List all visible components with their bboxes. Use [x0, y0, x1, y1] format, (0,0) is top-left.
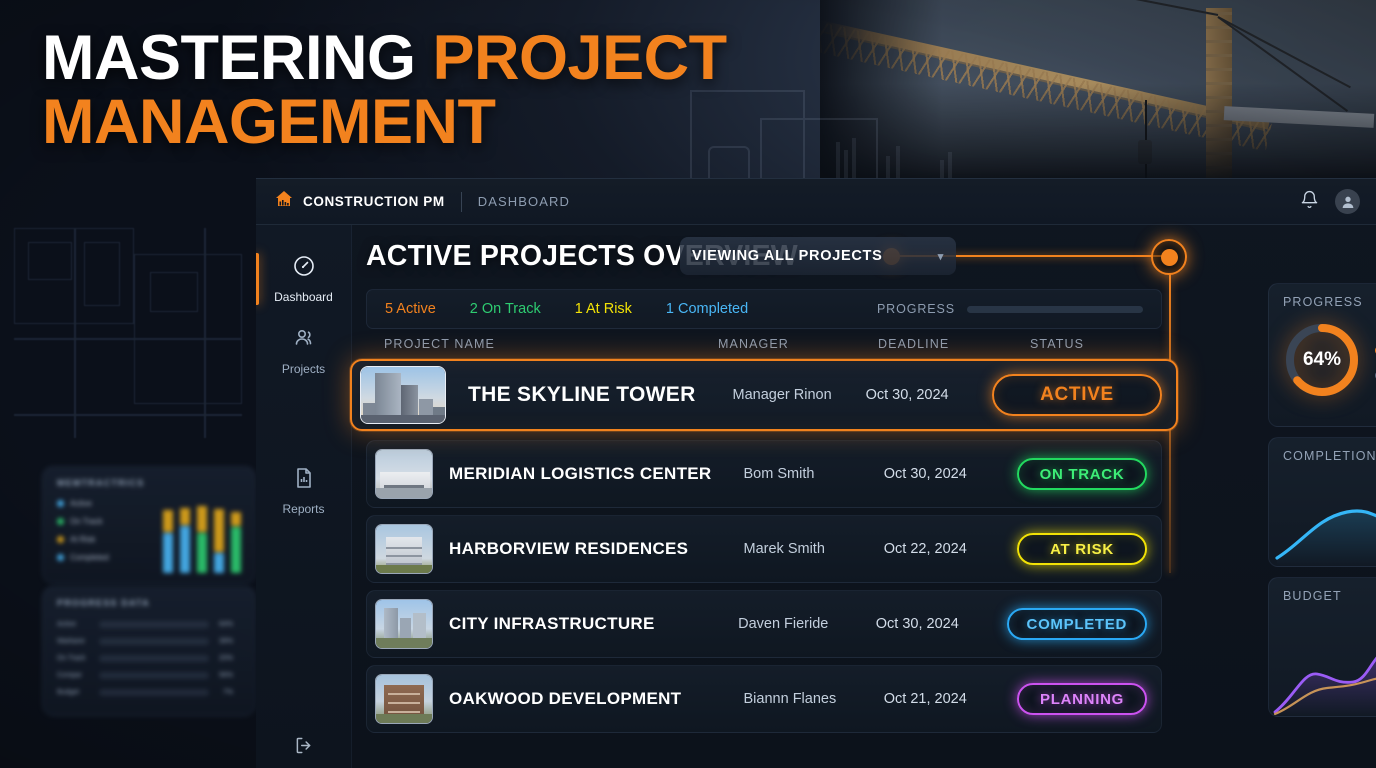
background-metrics-card: MEMTRACTRICS Active On Track At Risk Com…	[42, 466, 256, 584]
column-header-project-name: PROJECT NAME	[366, 337, 718, 351]
completion-card-title: COMPLETION	[1269, 438, 1376, 463]
chevron-down-icon: ▾	[938, 250, 944, 263]
logout-icon	[293, 735, 314, 761]
viewing-filter-label: VIEWING ALL PROJECTS	[692, 248, 882, 264]
brand[interactable]: CONSTRUCTION PM	[274, 189, 445, 214]
stat-at-risk[interactable]: 1 At Risk	[575, 301, 632, 317]
donut-value: 64%	[1281, 319, 1363, 401]
completion-line-chart	[1269, 474, 1376, 566]
bg-legend-label: Active	[70, 499, 92, 508]
project-thumbnail	[375, 449, 433, 499]
project-name: THE SKYLINE TOWER	[468, 383, 696, 406]
table-row[interactable]: THE SKYLINE TOWER Manager Rinon Oct 30, …	[350, 359, 1178, 431]
sidebar-item-reports[interactable]: Reports	[256, 455, 351, 527]
project-name-cell: OAKWOOD DEVELOPMENT	[433, 689, 744, 709]
completion-card: COMPLETION	[1268, 437, 1376, 567]
background-metrics-title: MEMTRACTRICS	[57, 478, 144, 488]
budget-area-chart	[1269, 624, 1376, 716]
project-deadline: Oct 30, 2024	[866, 387, 992, 403]
topbar-actions	[1300, 189, 1360, 214]
bg-row-value: 39%	[215, 638, 233, 645]
hero-line2: MANAGEMENT	[42, 87, 495, 157]
progress-label: PROGRESS	[877, 302, 955, 316]
project-manager: Bom Smith	[744, 466, 884, 482]
bg-row-label: Compar	[57, 672, 93, 679]
bg-row-label: Active	[57, 621, 93, 628]
project-name-cell: MERIDIAN LOGISTICS CENTER	[433, 464, 744, 484]
sidebar-item-projects[interactable]: Projects	[256, 315, 351, 387]
page-title: MASTERING PROJECT MANAGEMENT	[42, 26, 727, 155]
bg-row-value: 20%	[215, 655, 233, 662]
bg-row-label: Warkane	[57, 638, 93, 645]
sidebar: Dashboard Projects	[256, 225, 352, 768]
sidebar-item-label: Reports	[282, 502, 324, 516]
project-thumbnail	[360, 366, 446, 424]
column-header-manager: MANAGER	[718, 337, 878, 351]
progress-card: PROGRESS 64% 64% COMPL	[1268, 283, 1376, 427]
status-badge[interactable]: AT RISK	[1017, 533, 1147, 565]
project-list: THE SKYLINE TOWER Manager Rinon Oct 30, …	[366, 359, 1162, 733]
stat-completed[interactable]: 1 Completed	[666, 301, 748, 317]
bg-row-value: 64%	[215, 621, 233, 628]
app-topbar: CONSTRUCTION PM DASHBOARD	[256, 179, 1376, 225]
overall-progress: PROGRESS	[877, 302, 1143, 316]
brand-name: CONSTRUCTION PM	[303, 194, 445, 209]
project-manager: Manager Rinon	[733, 387, 866, 403]
table-row[interactable]: OAKWOOD DEVELOPMENT Biannn Flanes Oct 21…	[366, 665, 1162, 733]
project-status-cell: ON TRACK	[1017, 458, 1147, 490]
bg-legend-label: At Risk	[70, 535, 95, 544]
bg-legend-label: On Track	[70, 517, 102, 526]
sidebar-item-label: Projects	[282, 362, 325, 376]
viewing-filter-dropdown[interactable]: VIEWING ALL PROJECTS ▾	[680, 237, 956, 275]
project-manager: Daven Fieride	[738, 616, 876, 632]
screenshot-stage: MASTERING PROJECT MANAGEMENT MEMTRACTRIC…	[0, 0, 1376, 768]
table-row[interactable]: CITY INFRASTRUCTURE Daven Fieride Oct 30…	[366, 590, 1162, 658]
project-name-cell: CITY INFRASTRUCTURE	[433, 614, 738, 634]
background-bar-chart	[163, 495, 249, 573]
progress-card-title: PROGRESS	[1269, 284, 1376, 309]
project-manager: Biannn Flanes	[744, 691, 884, 707]
project-thumbnail	[375, 524, 433, 574]
project-name: CITY INFRASTRUCTURE	[449, 614, 655, 633]
project-thumbnail	[375, 674, 433, 724]
column-header-status: STATUS	[1030, 337, 1162, 351]
user-avatar-icon[interactable]	[1335, 189, 1360, 214]
project-status-cell: COMPLETED	[1007, 608, 1147, 640]
project-name-cell: HARBORVIEW RESIDENCES	[433, 539, 744, 559]
sidebar-item-label: Dashboard	[274, 290, 333, 304]
project-thumbnail	[375, 599, 433, 649]
gauge-icon	[292, 254, 316, 283]
status-badge[interactable]: COMPLETED	[1007, 608, 1147, 640]
project-status-cell: AT RISK	[1017, 533, 1147, 565]
main-content: ACTIVE PROJECTS OVERVIEW VIEWING ALL PRO…	[352, 225, 1376, 768]
project-name: MERIDIAN LOGISTICS CENTER	[449, 464, 712, 483]
progress-bar-track	[967, 306, 1143, 313]
project-deadline: Oct 21, 2024	[884, 691, 1017, 707]
stat-on-track[interactable]: 2 On Track	[470, 301, 541, 317]
project-manager: Marek Smith	[744, 541, 884, 557]
hero-line1-white: MASTERING	[42, 23, 433, 93]
background-progress-title: PROGRESS DATA	[57, 598, 150, 608]
topbar-divider	[461, 192, 462, 212]
building-logo-icon	[274, 189, 294, 214]
bg-row-value: 56%	[215, 672, 233, 679]
app-body: Dashboard Projects	[256, 225, 1376, 768]
project-name: HARBORVIEW RESIDENCES	[449, 539, 688, 558]
status-badge[interactable]: ON TRACK	[1017, 458, 1147, 490]
bg-row-label: On Track	[57, 655, 93, 662]
status-badge[interactable]: ACTIVE	[992, 374, 1162, 416]
logout-button[interactable]	[256, 735, 351, 761]
progress-donut-chart: 64%	[1281, 319, 1363, 401]
stats-bar: 5 Active 2 On Track 1 At Risk 1 Complete…	[366, 289, 1162, 329]
table-row[interactable]: HARBORVIEW RESIDENCES Marek Smith Oct 22…	[366, 515, 1162, 583]
people-icon	[292, 326, 316, 355]
project-name: OAKWOOD DEVELOPMENT	[449, 689, 681, 708]
breadcrumb[interactable]: DASHBOARD	[478, 194, 570, 209]
table-row[interactable]: MERIDIAN LOGISTICS CENTER Bom Smith Oct …	[366, 440, 1162, 508]
bell-icon[interactable]	[1300, 190, 1319, 214]
table-header: PROJECT NAME MANAGER DEADLINE STATUS	[366, 329, 1162, 359]
bg-legend-label: Completed	[70, 553, 109, 562]
sidebar-item-dashboard[interactable]: Dashboard	[256, 243, 351, 315]
project-deadline: Oct 30, 2024	[876, 616, 1007, 632]
hero-line1-orange: PROJECT	[433, 23, 727, 93]
project-deadline: Oct 30, 2024	[884, 466, 1017, 482]
window-right-edge	[1370, 179, 1376, 768]
column-header-deadline: DEADLINE	[878, 337, 1030, 351]
bg-row-label: Budget	[57, 689, 93, 696]
right-panel-stack: PROGRESS 64% 64% COMPL	[1268, 283, 1376, 717]
stat-active[interactable]: 5 Active	[385, 301, 436, 317]
document-chart-icon	[292, 466, 316, 495]
budget-card: BUDGET $4.6	[1268, 577, 1376, 717]
project-name-cell: THE SKYLINE TOWER	[446, 383, 733, 407]
project-status-cell: ACTIVE	[992, 374, 1162, 416]
project-status-cell: PLANNING	[1017, 683, 1147, 715]
status-badge[interactable]: PLANNING	[1017, 683, 1147, 715]
dashboard-window: CONSTRUCTION PM DASHBOARD	[256, 178, 1376, 768]
budget-card-title: BUDGET	[1269, 578, 1376, 603]
background-progress-data-card: PROGRESS DATA Active 64% Warkane 39% On …	[42, 586, 256, 716]
bg-row-value: 7%	[215, 689, 233, 696]
project-deadline: Oct 22, 2024	[884, 541, 1017, 557]
